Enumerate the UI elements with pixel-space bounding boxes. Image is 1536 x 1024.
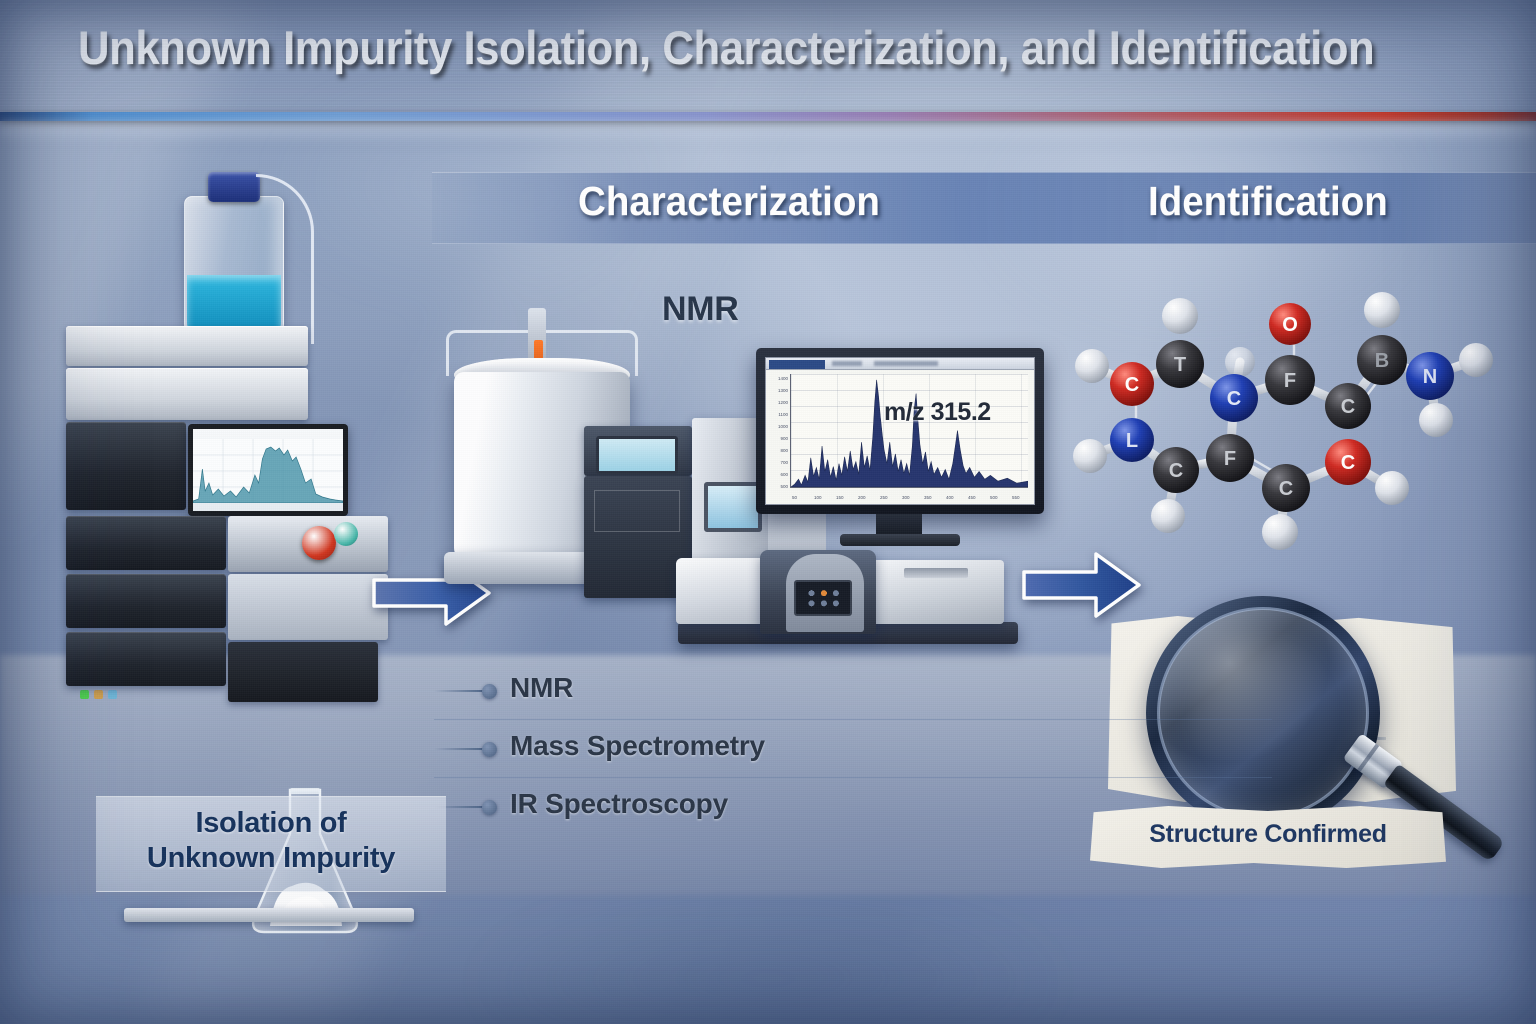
hplc-system <box>66 186 396 746</box>
ms-y-tick: 1100 <box>768 412 788 417</box>
led-green <box>80 690 89 699</box>
technique-label: NMR <box>510 672 573 704</box>
bullet-dot-icon <box>482 684 497 699</box>
instrument-touchscreen[interactable] <box>596 436 678 474</box>
atom-C-blue: C <box>1210 374 1258 422</box>
ms-spectrum-trace <box>791 374 1028 487</box>
ms-screen: 1400 1300 1200 1100 1000 900 800 700 600… <box>765 357 1035 505</box>
ms-x-tick: 50 <box>792 495 797 500</box>
ms-x-tick: 200 <box>858 495 866 500</box>
monitor-stand-base <box>840 534 960 546</box>
ms-data-monitor[interactable]: 1400 1300 1200 1100 1000 900 800 700 600… <box>756 348 1044 514</box>
bottle-cap <box>208 172 260 202</box>
page-title: Unknown Impurity Isolation, Characteriza… <box>78 20 1380 75</box>
chromatogram-display[interactable] <box>188 424 348 516</box>
ball-and-stick-molecule: C T L C C F F O C C <box>1058 272 1498 572</box>
ms-x-tick: 100 <box>814 495 822 500</box>
atom-label: C <box>1341 396 1355 418</box>
atom-label: T <box>1174 354 1186 376</box>
ir-spectrometer <box>676 548 1028 646</box>
atom-C-center: C <box>1325 383 1371 429</box>
hplc-module-detector <box>66 326 308 366</box>
confirmation-text: Structure Confirmed <box>1090 820 1446 849</box>
bullet-dot-icon <box>482 742 497 757</box>
title-bar: Unknown Impurity Isolation, Characteriza… <box>0 0 1536 112</box>
nmr-annotation-label: NMR <box>662 290 739 329</box>
list-item: IR Spectroscopy <box>448 778 868 836</box>
title-accent-line <box>0 112 1536 121</box>
atom-T: T <box>1156 340 1204 388</box>
magnifier-inner-ring <box>1157 607 1369 819</box>
atom-F-1: F <box>1206 434 1254 482</box>
atom-C-red-1: C <box>1110 362 1154 406</box>
caption-line-1: Isolation of <box>195 807 346 839</box>
ms-x-tick: 550 <box>1012 495 1020 500</box>
atom-F-2: F <box>1265 355 1315 405</box>
instrument-small-display[interactable] <box>704 482 762 532</box>
hplc-module-controller <box>66 422 186 510</box>
atom-label: O <box>1282 314 1298 336</box>
list-item: NMR <box>448 662 868 720</box>
atom-label: N <box>1423 366 1437 388</box>
solvent-tubing <box>256 174 314 344</box>
atom-label: F <box>1224 448 1236 470</box>
mz-annotation: m/z 315.2 <box>884 398 991 427</box>
chromatogram-screen <box>193 429 343 511</box>
caption-line-2: Unknown Impurity <box>147 842 395 874</box>
ms-x-tick: 250 <box>880 495 888 500</box>
ms-x-tick: 450 <box>968 495 976 500</box>
ms-y-tick: 600 <box>768 472 788 477</box>
atom-C-red-2: C <box>1325 439 1371 485</box>
hplc-module-oven <box>66 516 226 570</box>
infographic-root: Unknown Impurity Isolation, Characteriza… <box>0 0 1536 1024</box>
ir-sample-lid[interactable] <box>904 568 968 578</box>
controller-leds <box>80 690 117 699</box>
atom-label: C <box>1227 388 1241 410</box>
led-amber <box>94 690 103 699</box>
hplc-module-autosampler <box>66 574 226 628</box>
monitor-stand-neck <box>876 514 922 536</box>
ms-x-tick: 300 <box>902 495 910 500</box>
bullet-dot-icon <box>482 800 497 815</box>
techniques-list: NMR Mass Spectrometry IR Spectroscopy <box>448 662 868 836</box>
ms-y-tick: 1400 <box>768 376 788 381</box>
ms-toolbar-text-a <box>832 361 862 366</box>
atom-label: L <box>1126 430 1138 452</box>
instrument-control-panel[interactable] <box>594 490 680 532</box>
section-header-identification: Identification <box>1148 178 1388 225</box>
list-item: Mass Spectrometry <box>448 720 868 778</box>
atom-C-ring-1: C <box>1153 447 1199 493</box>
atom-label: B <box>1375 350 1389 372</box>
hplc-base-unit <box>228 642 378 702</box>
led-blue <box>108 690 117 699</box>
injection-valve-knob[interactable] <box>302 526 336 560</box>
atom-C-ring-2: C <box>1262 464 1310 512</box>
hplc-column-compartment <box>228 574 388 640</box>
accent-glow <box>0 121 1536 143</box>
ms-x-tick: 400 <box>946 495 954 500</box>
ms-y-tick: 1000 <box>768 424 788 429</box>
ms-active-tab[interactable] <box>769 360 825 369</box>
isolation-caption: Isolation of Unknown Impurity <box>96 806 446 877</box>
hplc-module-degasser <box>66 632 226 686</box>
technique-label: Mass Spectrometry <box>510 730 765 762</box>
section-header-characterization: Characterization <box>578 178 880 225</box>
technique-label: IR Spectroscopy <box>510 788 728 820</box>
chromatogram-trace <box>193 439 343 503</box>
ms-x-tick: 350 <box>924 495 932 500</box>
atom-label: C <box>1169 460 1183 482</box>
ms-y-tick: 800 <box>768 448 788 453</box>
ms-y-tick: 1300 <box>768 388 788 393</box>
ms-x-tick: 500 <box>990 495 998 500</box>
atom-label: C <box>1341 452 1355 474</box>
atom-O: O <box>1269 303 1311 345</box>
secondary-valve-knob[interactable] <box>334 522 358 546</box>
atom-B: B <box>1357 335 1407 385</box>
atom-label: F <box>1284 370 1296 392</box>
ms-y-tick: 1200 <box>768 400 788 405</box>
leader-line <box>434 690 486 692</box>
leader-line <box>434 748 486 750</box>
ir-keypad[interactable] <box>794 580 852 616</box>
instrument-base-rail <box>124 908 414 922</box>
ms-y-tick: 500 <box>768 484 788 489</box>
ms-x-tick: 150 <box>836 495 844 500</box>
ms-y-tick: 700 <box>768 460 788 465</box>
hplc-module-pump <box>66 368 308 420</box>
atom-N: N <box>1406 352 1454 400</box>
ms-toolbar-text-b <box>874 361 938 366</box>
atom-L: L <box>1110 418 1154 462</box>
ms-plot-area <box>790 374 1028 488</box>
ms-y-tick: 900 <box>768 436 788 441</box>
atom-label: C <box>1125 374 1139 396</box>
atom-label: C <box>1279 478 1293 500</box>
